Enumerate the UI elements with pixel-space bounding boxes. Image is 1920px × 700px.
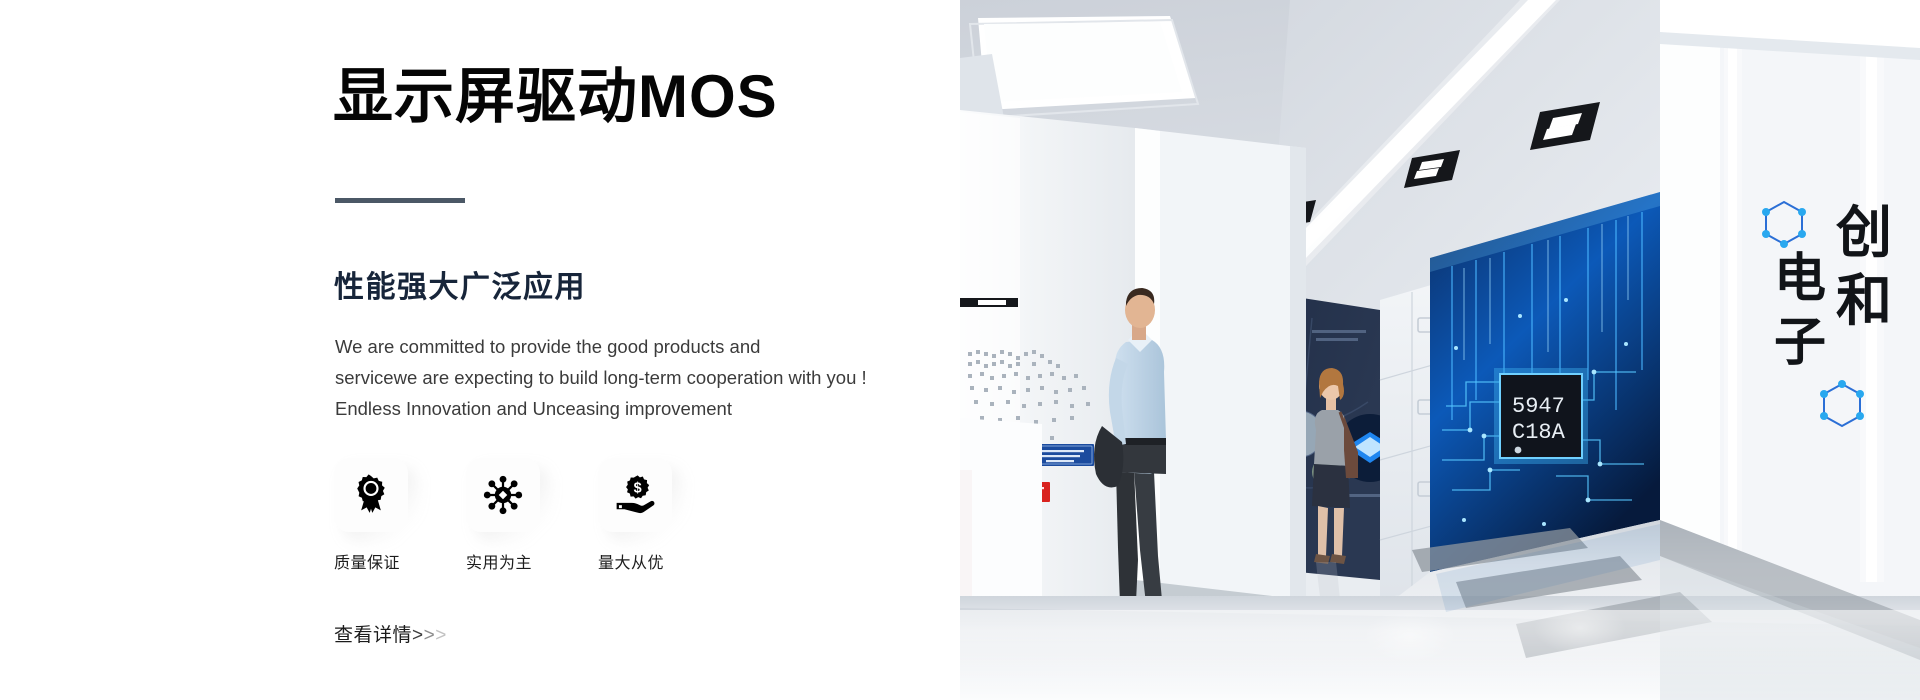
description-line-2: servicewe are expecting to build long-te… [335, 362, 867, 393]
description-line-3: Endless Innovation and Unceasing improve… [335, 393, 867, 424]
hand-money-icon: $ [614, 474, 656, 516]
feature-item-practical[interactable]: 实用为主 [466, 458, 540, 573]
cta-chevron-1: > [412, 625, 424, 646]
feature-tile: $ [598, 458, 672, 532]
feature-tile [466, 458, 540, 532]
feature-item-bulk-discount[interactable]: $ 量大从优 [598, 458, 672, 573]
feature-label: 质量保证 [334, 549, 408, 573]
wall-sign-char-1: 创 [1836, 201, 1892, 264]
chip-graphic: 5947 C18A [1494, 368, 1588, 464]
wall-sign-char-2: 和 [1836, 269, 1892, 332]
subtitle: 性能强大广泛应用 [334, 262, 586, 306]
feature-item-quality[interactable]: 质量保证 [334, 458, 408, 573]
cta-label: 查看详情 [334, 625, 412, 646]
view-details-link[interactable]: 查看详情>>> [334, 620, 447, 647]
chip-label-line1: 5947 [1512, 394, 1565, 419]
promo-banner: 显示屏驱动MOS 性能强大广泛应用 We are committed to pr… [0, 0, 1920, 700]
title-divider [335, 198, 465, 203]
feature-label: 量大从优 [598, 549, 672, 573]
feature-list: 质量保证 [334, 458, 672, 573]
cta-chevron-2: > [424, 625, 436, 646]
feature-tile [334, 458, 408, 532]
svg-text:$: $ [634, 481, 642, 497]
showroom-photo: 5947 C18A [960, 0, 1920, 700]
award-ribbon-icon [350, 474, 392, 516]
description-line-1: We are committed to provide the good pro… [335, 331, 867, 362]
page-title: 显示屏驱动MOS [333, 62, 778, 133]
wall-sign-char-3: 电 [1774, 250, 1826, 308]
network-hub-icon [482, 474, 524, 516]
text-panel: 显示屏驱动MOS 性能强大广泛应用 We are committed to pr… [0, 0, 960, 700]
feature-label: 实用为主 [466, 549, 540, 573]
wall-sign-char-4: 子 [1774, 314, 1826, 372]
description-text: We are committed to provide the good pro… [335, 331, 867, 424]
chip-label-line2: C18A [1512, 420, 1566, 445]
cta-chevron-3: > [435, 625, 447, 646]
